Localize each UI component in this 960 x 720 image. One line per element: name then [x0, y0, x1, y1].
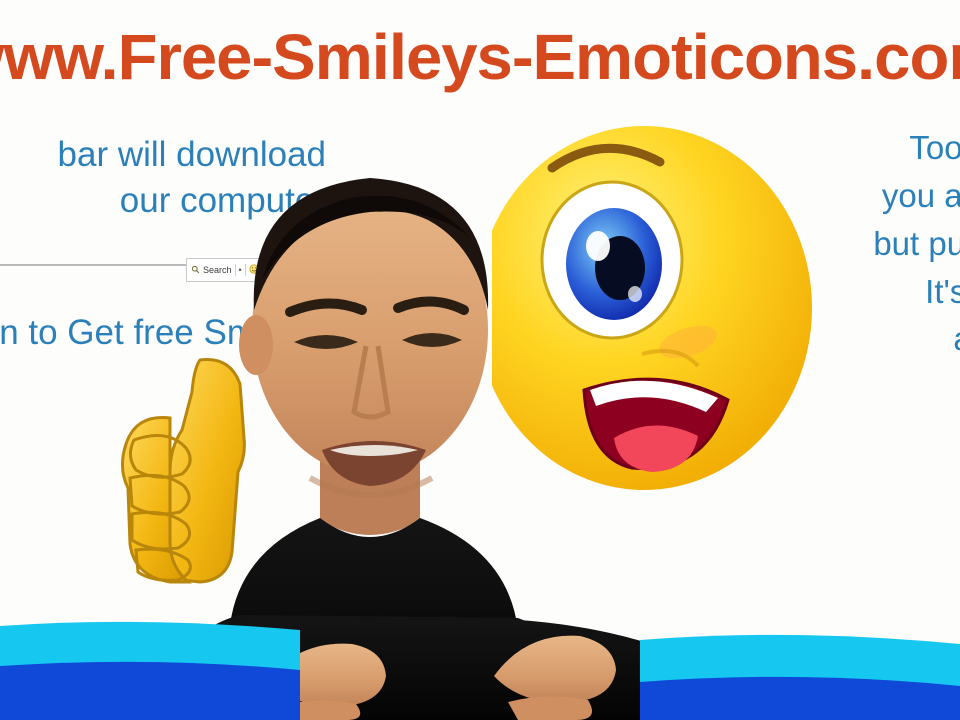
toolbar-divider-line [0, 264, 190, 266]
video-frame: www.Free-Smileys-Emoticons.com bar will … [0, 0, 960, 720]
site-url-banner: www.Free-Smileys-Emoticons.com [0, 14, 960, 100]
water-wave-banner [0, 600, 960, 720]
site-url-text: www.Free-Smileys-Emoticons.com [0, 25, 960, 89]
